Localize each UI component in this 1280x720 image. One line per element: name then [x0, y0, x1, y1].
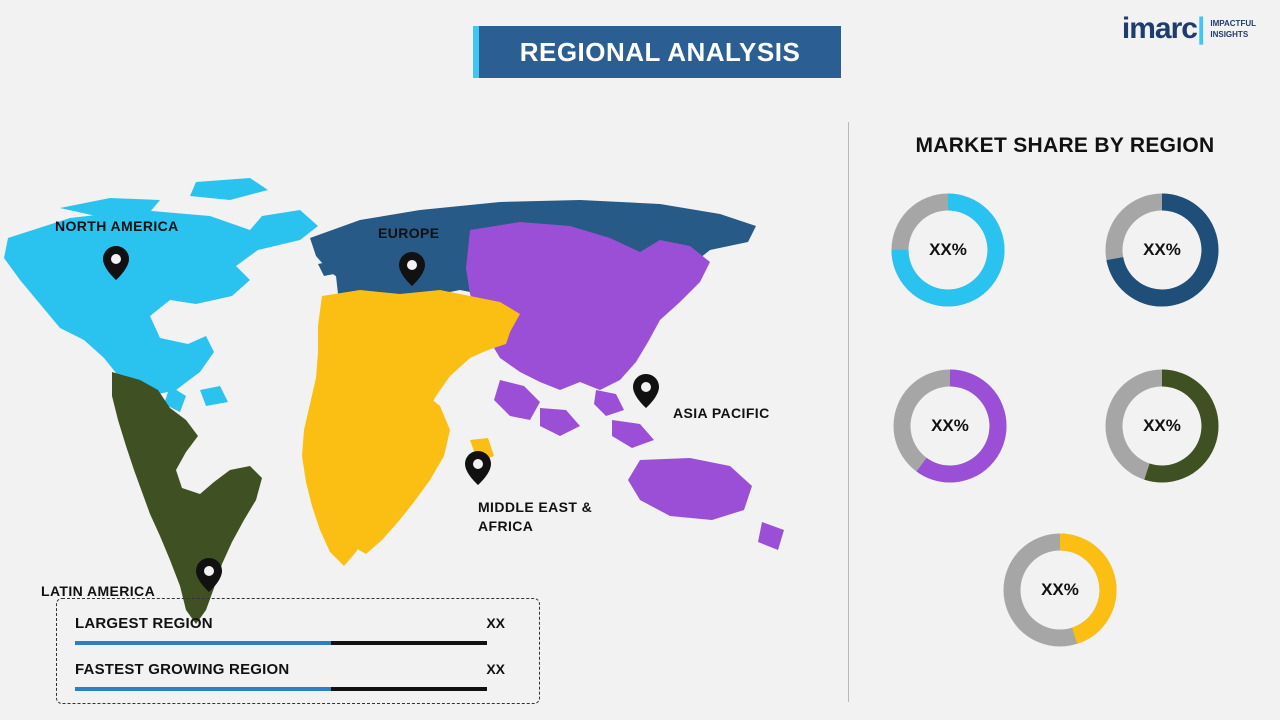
brand-logo: imarc| IMPACTFUL INSIGHTS: [1122, 14, 1256, 44]
map-pin-latin-america: [196, 558, 222, 592]
donut-chart-latin-america: XX%: [1102, 366, 1222, 486]
logo-accent-bar: |: [1197, 12, 1204, 45]
map-label-middle-east-africa: MIDDLE EAST & AFRICA: [478, 498, 628, 536]
market-share-title: MARKET SHARE BY REGION: [860, 134, 1270, 158]
fastest-region-bar: [75, 687, 487, 691]
logo-wordmark: imarc|: [1122, 14, 1204, 44]
logo-tagline: IMPACTFUL INSIGHTS: [1210, 14, 1256, 40]
legend-box: LARGEST REGION XX FASTEST GROWING REGION…: [56, 598, 540, 704]
donut-chart-north-america: XX%: [888, 190, 1008, 310]
donut-label-middle-east-africa: XX%: [1000, 530, 1120, 650]
largest-region-bar: [75, 641, 487, 645]
map-region-north-america: [4, 178, 318, 412]
map-pin-europe: [399, 252, 425, 286]
logo-tagline-line2: INSIGHTS: [1210, 29, 1256, 40]
largest-region-bar-track: [331, 641, 487, 645]
map-pin-north-america: [103, 246, 129, 280]
map-label-north-america: NORTH AMERICA: [55, 217, 179, 236]
legend-row-largest-region: LARGEST REGION XX: [75, 615, 521, 633]
donut-label-latin-america: XX%: [1102, 366, 1222, 486]
donut-label-north-america: XX%: [888, 190, 1008, 310]
fastest-region-bar-fill: [75, 687, 331, 691]
infographic-page: REGIONAL ANALYSIS imarc| IMPACTFUL INSIG…: [0, 0, 1280, 720]
largest-region-value: XX: [486, 615, 505, 631]
largest-region-label: LARGEST REGION: [75, 615, 213, 632]
logo-text: imarc: [1122, 12, 1197, 45]
legend-row-fastest-region: FASTEST GROWING REGION XX: [75, 661, 521, 679]
market-share-panel: MARKET SHARE BY REGION XX% XX% XX%: [860, 120, 1270, 720]
fastest-region-bar-track: [331, 687, 487, 691]
page-title-banner: REGIONAL ANALYSIS: [473, 26, 841, 78]
fastest-region-value: XX: [486, 661, 505, 677]
donut-label-asia-pacific: XX%: [890, 366, 1010, 486]
logo-tagline-line1: IMPACTFUL: [1210, 18, 1256, 29]
panel-divider: [848, 122, 849, 702]
world-map: [0, 90, 840, 630]
donut-chart-asia-pacific: XX%: [890, 366, 1010, 486]
map-label-europe: EUROPE: [378, 224, 440, 243]
map-pin-asia-pacific: [633, 374, 659, 408]
map-pin-middle-east-africa: [465, 451, 491, 485]
page-title: REGIONAL ANALYSIS: [520, 37, 801, 68]
donut-chart-europe: XX%: [1102, 190, 1222, 310]
donut-chart-middle-east-africa: XX%: [1000, 530, 1120, 650]
map-label-asia-pacific: ASIA PACIFIC: [673, 404, 770, 423]
donut-label-europe: XX%: [1102, 190, 1222, 310]
largest-region-bar-fill: [75, 641, 331, 645]
fastest-region-label: FASTEST GROWING REGION: [75, 661, 289, 678]
